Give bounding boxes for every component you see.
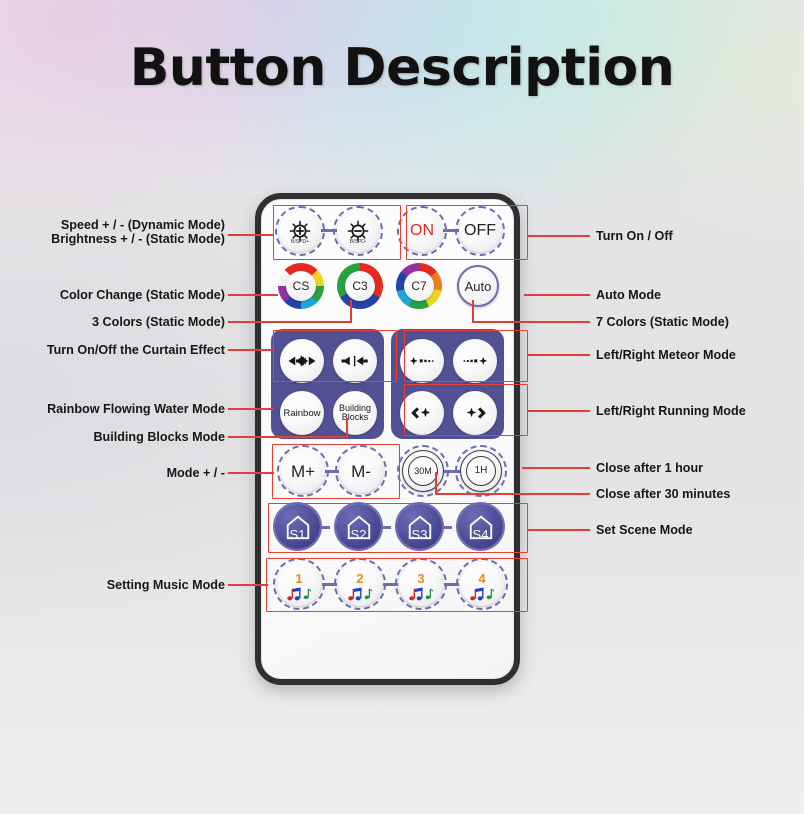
callout-running: Left/Right Running Mode [596, 404, 746, 418]
label-rainbow-mode: Rainbow [284, 408, 321, 419]
highlight-running [404, 384, 528, 436]
callout-mode-line1: Mode + / - [6, 466, 225, 480]
callout-speed-brightness-line1: Speed + / - (Dynamic Mode) [10, 218, 225, 232]
seven-colors-center: C7 [404, 271, 434, 301]
button-auto-mode[interactable]: Auto [457, 265, 499, 307]
highlight-scene [268, 503, 528, 553]
leader-three-colors [228, 321, 352, 323]
button-timer-30-minutes[interactable]: 30M [402, 450, 444, 492]
leader-meteor [528, 354, 590, 356]
callout-30-minutes-line1: Close after 30 minutes [596, 487, 730, 501]
callout-curtain-effect: Turn On/Off the Curtain Effect [6, 343, 225, 357]
button-three-colors[interactable]: C3 [337, 263, 383, 309]
label-timer-1-hour: 1H [475, 466, 488, 476]
leader-color-change [228, 294, 278, 296]
callout-three-colors-line1: 3 Colors (Static Mode) [10, 315, 225, 329]
callout-music-line1: Setting Music Mode [6, 578, 225, 592]
leader-running [528, 410, 590, 412]
label-three-colors: C3 [352, 280, 367, 292]
callout-color-change: Color Change (Static Mode) [10, 288, 225, 302]
callout-auto-mode: Auto Mode [596, 288, 661, 302]
label-timer-30-minutes: 30M [414, 467, 432, 476]
leader-seven-colors [472, 321, 590, 323]
leader-mode [228, 472, 274, 474]
button-seven-colors[interactable]: C7 [396, 263, 442, 309]
callout-color-change-line1: Color Change (Static Mode) [10, 288, 225, 302]
leader-curtain-effect [228, 349, 274, 351]
connector-row5-right [444, 470, 460, 473]
callout-meteor-line1: Left/Right Meteor Mode [596, 348, 736, 362]
callout-turn-on-off: Turn On / Off [596, 229, 673, 243]
timer-30m-inner-ring: 30M [408, 456, 438, 486]
callout-seven-colors: 7 Colors (Static Mode) [596, 315, 729, 329]
highlight-mode [272, 444, 400, 499]
callout-scene-line1: Set Scene Mode [596, 523, 693, 537]
color-change-center: CS [286, 271, 316, 301]
label-auto-mode: Auto [465, 280, 492, 293]
callout-music: Setting Music Mode [6, 578, 225, 592]
callout-1-hour-line1: Close after 1 hour [596, 461, 703, 475]
highlight-curtain [273, 330, 397, 382]
button-color-change[interactable]: CS [278, 263, 324, 309]
label-seven-colors: C7 [411, 280, 426, 292]
highlight-music [266, 558, 528, 612]
vleader-30-minutes [435, 472, 437, 494]
button-rainbow-mode[interactable]: Rainbow [280, 391, 324, 435]
callout-1-hour: Close after 1 hour [596, 461, 703, 475]
leader-rainbow [228, 408, 274, 410]
callout-building-blocks: Building Blocks Mode [6, 430, 225, 444]
leader-music [228, 584, 268, 586]
leader-auto-mode [524, 294, 590, 296]
button-timer-1-hour[interactable]: 1H [460, 450, 502, 492]
callout-running-line1: Left/Right Running Mode [596, 404, 746, 418]
three-colors-center: C3 [345, 271, 375, 301]
callout-turn-on-off-line1: Turn On / Off [596, 229, 673, 243]
callout-mode: Mode + / - [6, 466, 225, 480]
highlight-speed-brightness [273, 205, 401, 260]
callout-rainbow: Rainbow Flowing Water Mode [6, 402, 225, 416]
vleader-three-colors [350, 300, 352, 322]
callout-speed-brightness-line2: Brightness + / - (Static Mode) [10, 232, 225, 246]
callout-auto-mode-line1: Auto Mode [596, 288, 661, 302]
label-color-change: CS [293, 280, 310, 292]
callout-building-blocks-line1: Building Blocks Mode [6, 430, 225, 444]
timer-1h-inner-ring: 1H [466, 456, 496, 486]
callout-30-minutes: Close after 30 minutes [596, 487, 730, 501]
leader-speed-brightness [228, 234, 273, 236]
leader-scene [528, 529, 590, 531]
callout-meteor: Left/Right Meteor Mode [596, 348, 736, 362]
leader-30-minutes [435, 493, 590, 495]
highlight-meteor [404, 330, 528, 382]
highlight-power [406, 205, 528, 260]
leader-building-blocks [228, 436, 348, 438]
callout-rainbow-line1: Rainbow Flowing Water Mode [6, 402, 225, 416]
callout-three-colors: 3 Colors (Static Mode) [10, 315, 225, 329]
leader-turn-on-off [528, 235, 590, 237]
callout-speed-brightness: Speed + / - (Dynamic Mode) Brightness + … [10, 218, 225, 247]
page-title: Button Description [0, 38, 804, 98]
callout-curtain-effect-line1: Turn On/Off the Curtain Effect [6, 343, 225, 357]
vleader-building-blocks [346, 418, 348, 437]
button-building-blocks-mode[interactable]: Building Blocks [333, 391, 377, 435]
leader-1-hour [522, 467, 590, 469]
vleader-seven-colors [472, 300, 474, 322]
callout-scene: Set Scene Mode [596, 523, 693, 537]
callout-seven-colors-line1: 7 Colors (Static Mode) [596, 315, 729, 329]
